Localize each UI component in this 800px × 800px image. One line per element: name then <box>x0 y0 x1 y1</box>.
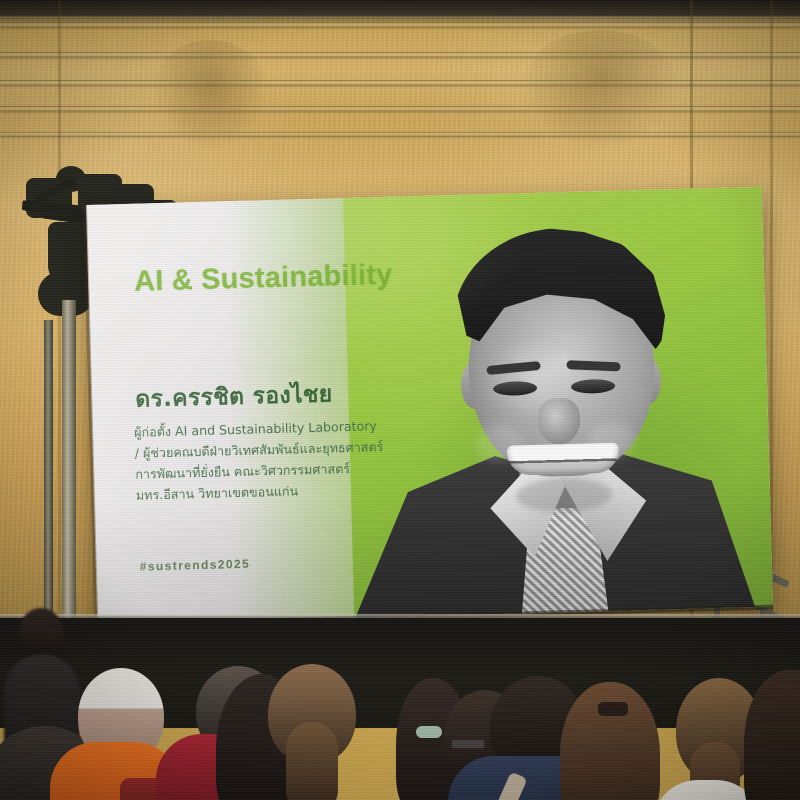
event-hashtag: #sustrends2025 <box>140 557 251 574</box>
wall-stain-1 <box>150 40 270 150</box>
secondary-stand-pole <box>44 320 53 630</box>
audience <box>0 630 800 800</box>
ceiling-shadow-strip <box>0 0 800 16</box>
slide-surface: AI & Sustainability ดร.ครรชิต รองไชย ผู้… <box>86 187 773 625</box>
wall-ledge-4 <box>0 106 800 111</box>
hair-clip <box>598 702 628 716</box>
wall-ledge-1 <box>0 22 800 27</box>
speaker-name: ดร.ครรชิต รองไชย <box>135 376 333 417</box>
glasses-icon <box>450 738 486 750</box>
hair-tie <box>416 726 442 738</box>
wall-stain-2 <box>520 30 680 150</box>
projection-screen: AI & Sustainability ดร.ครรชิต รองไชย ผู้… <box>86 187 773 625</box>
ponytail <box>286 722 338 800</box>
conference-photo: AI & Sustainability ดร.ครรชิต รองไชย ผู้… <box>0 0 800 800</box>
speaker-portrait <box>386 189 697 617</box>
wall-ledge-2 <box>0 52 800 57</box>
speaker-stand-pole <box>62 300 76 630</box>
person-head-far-right <box>744 670 800 800</box>
speaker-roles: ผู้ก่อตั้ง AI and Sustainability Laborat… <box>134 413 466 506</box>
person-head-brown-hair <box>560 682 660 800</box>
slide-title: AI & Sustainability <box>134 259 393 299</box>
portrait-smile <box>507 443 620 476</box>
wall-ledge-5 <box>0 132 800 136</box>
wall-ledge-3 <box>0 80 800 85</box>
